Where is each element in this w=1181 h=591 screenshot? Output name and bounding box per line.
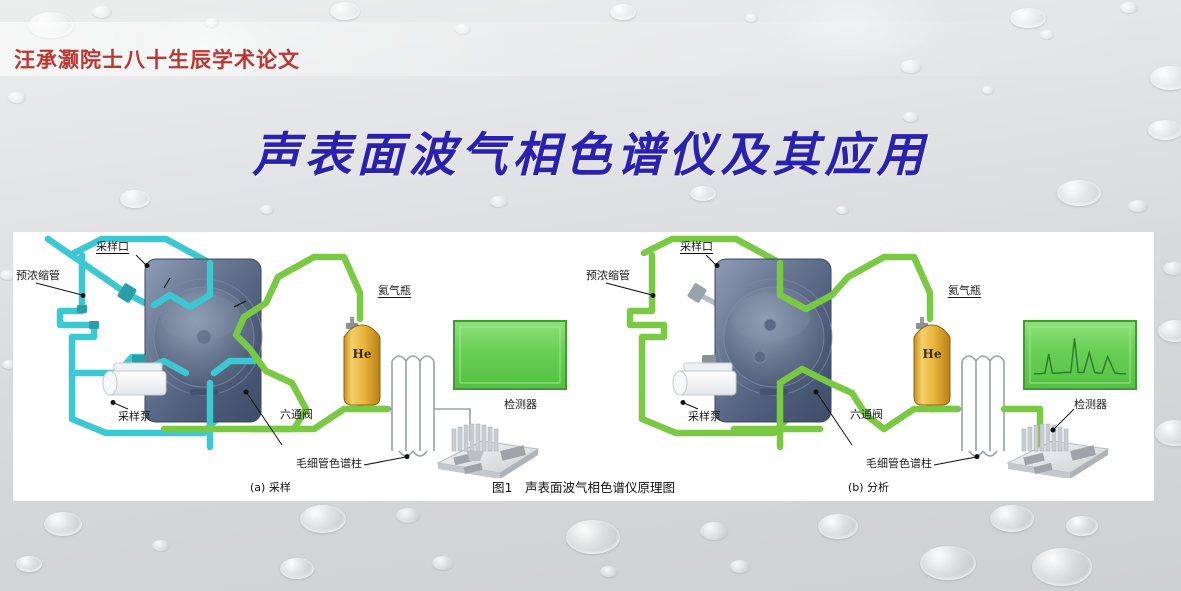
water-droplet — [432, 556, 454, 570]
water-droplet — [836, 206, 849, 214]
water-droplet — [920, 546, 976, 580]
figure-panel: He — [14, 233, 1153, 500]
water-droplet — [330, 2, 360, 20]
helium-cylinder: He — [344, 317, 380, 405]
label-detector: 检测器 — [1074, 399, 1107, 410]
water-droplet — [152, 540, 170, 551]
water-droplet — [990, 505, 1034, 532]
water-droplet — [600, 566, 618, 577]
label-preconcentrator: 预浓缩管 — [16, 270, 60, 281]
diagram-panel-sampling: He — [14, 233, 583, 500]
chromatogram-screen — [1024, 321, 1136, 389]
label-capillary-column: 毛细管色谱柱 — [296, 458, 362, 469]
water-droplet — [44, 512, 82, 536]
chromatogram-screen — [454, 321, 566, 389]
water-droplet — [1120, 2, 1138, 13]
capillary-column — [956, 356, 1004, 456]
water-droplet — [610, 4, 636, 20]
water-droplet — [982, 86, 994, 94]
cylinder-label: He — [923, 347, 942, 361]
water-droplet — [1032, 548, 1092, 586]
label-helium-cylinder: 氦气瓶 — [948, 285, 981, 298]
helium-cylinder: He — [914, 317, 950, 405]
figure-caption: 图1 声表面波气相色谱仪原理图 — [14, 477, 1153, 496]
label-sample-inlet: 采样口 — [680, 241, 713, 254]
water-droplet — [260, 205, 274, 214]
water-droplet — [690, 186, 716, 201]
water-droplet — [120, 190, 150, 208]
six-way-valve-body — [715, 259, 832, 422]
page-title: 声表面波气相色谱仪及其应用 — [0, 116, 1181, 185]
water-droplet — [490, 196, 508, 207]
saw-detector — [438, 424, 538, 478]
label-six-way-valve: 六通阀 — [280, 409, 313, 420]
water-droplet — [8, 92, 26, 103]
water-droplet — [566, 520, 620, 554]
sampling-schematic: He — [14, 233, 583, 478]
saw-detector — [1008, 424, 1108, 478]
label-helium-cylinder: 氦气瓶 — [378, 285, 411, 298]
label-capillary-column: 毛细管色谱柱 — [866, 458, 932, 469]
water-droplet — [730, 560, 750, 573]
water-droplet — [745, 14, 758, 22]
analysis-schematic: He — [584, 233, 1153, 478]
water-droplet — [92, 6, 112, 18]
cylinder-label: He — [353, 347, 372, 361]
water-droplet — [700, 522, 728, 540]
water-droplet — [300, 505, 346, 533]
water-droplet — [280, 558, 314, 579]
water-droplet — [1163, 262, 1181, 275]
label-sample-pump: 采样泵 — [688, 411, 721, 422]
water-droplet — [1066, 516, 1098, 536]
label-sample-inlet: 采样口 — [96, 241, 129, 254]
label-preconcentrator: 预浓缩管 — [586, 270, 630, 281]
label-detector: 检测器 — [504, 399, 537, 410]
water-droplet — [1128, 200, 1148, 212]
water-droplet — [818, 514, 858, 539]
label-six-way-valve: 六通阀 — [850, 409, 883, 420]
label-sample-pump: 采样泵 — [118, 411, 151, 422]
water-droplet — [396, 508, 420, 523]
water-droplet — [16, 556, 42, 572]
header-note: 汪承灏院士八十生辰学术论文 — [14, 44, 300, 74]
diagram-panel-analysis: He — [584, 233, 1153, 500]
